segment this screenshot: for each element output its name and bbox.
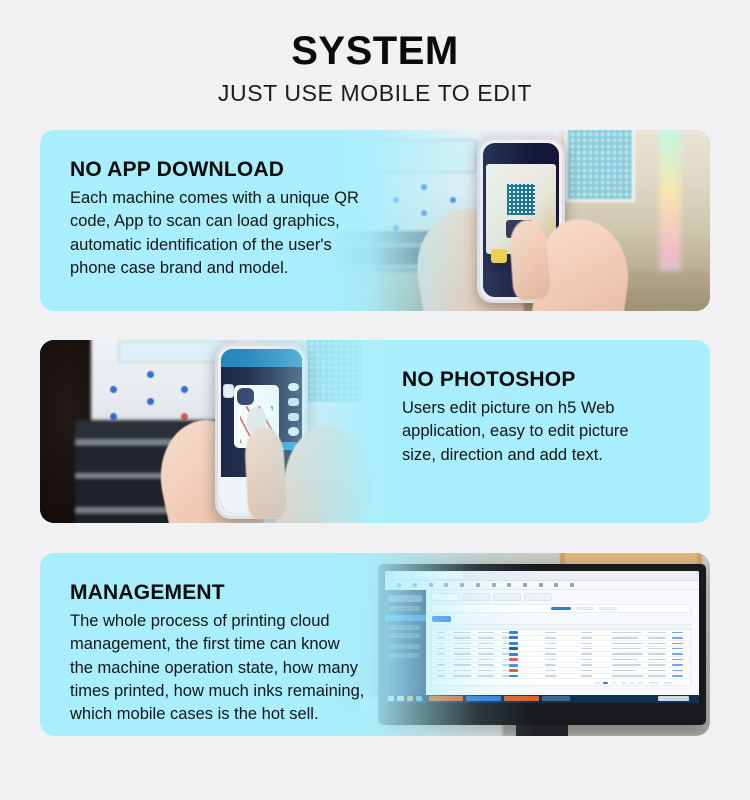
feature-card-no-app-download: NO APP DOWNLOAD Each machine comes with …: [40, 130, 710, 311]
card-heading: NO PHOTOSHOP: [402, 368, 680, 392]
card-body-no-app-download: NO APP DOWNLOAD Each machine comes with …: [40, 130, 710, 311]
page-subtitle: JUST USE MOBILE TO EDIT: [0, 80, 750, 108]
card-description: Users edit picture on h5 Web application…: [402, 397, 680, 467]
card-description: Each machine comes with a unique QR code…: [70, 187, 430, 281]
page-header: SYSTEM JUST USE MOBILE TO EDIT: [0, 0, 750, 108]
system-feature-page: SYSTEM JUST USE MOBILE TO EDIT: [0, 0, 750, 800]
feature-card-no-photoshop: NO PHOTOSHOP Users edit picture on h5 We…: [40, 340, 710, 523]
card-body-no-photoshop: NO PHOTOSHOP Users edit picture on h5 We…: [40, 340, 710, 523]
card-description: The whole process of printing cloud mana…: [70, 610, 430, 727]
feature-card-management: MANAGEMENT The whole process of printing…: [40, 553, 710, 736]
card-heading: NO APP DOWNLOAD: [70, 158, 680, 182]
card-heading: MANAGEMENT: [70, 581, 680, 605]
card-body-management: MANAGEMENT The whole process of printing…: [40, 553, 710, 736]
page-title: SYSTEM: [0, 28, 750, 74]
